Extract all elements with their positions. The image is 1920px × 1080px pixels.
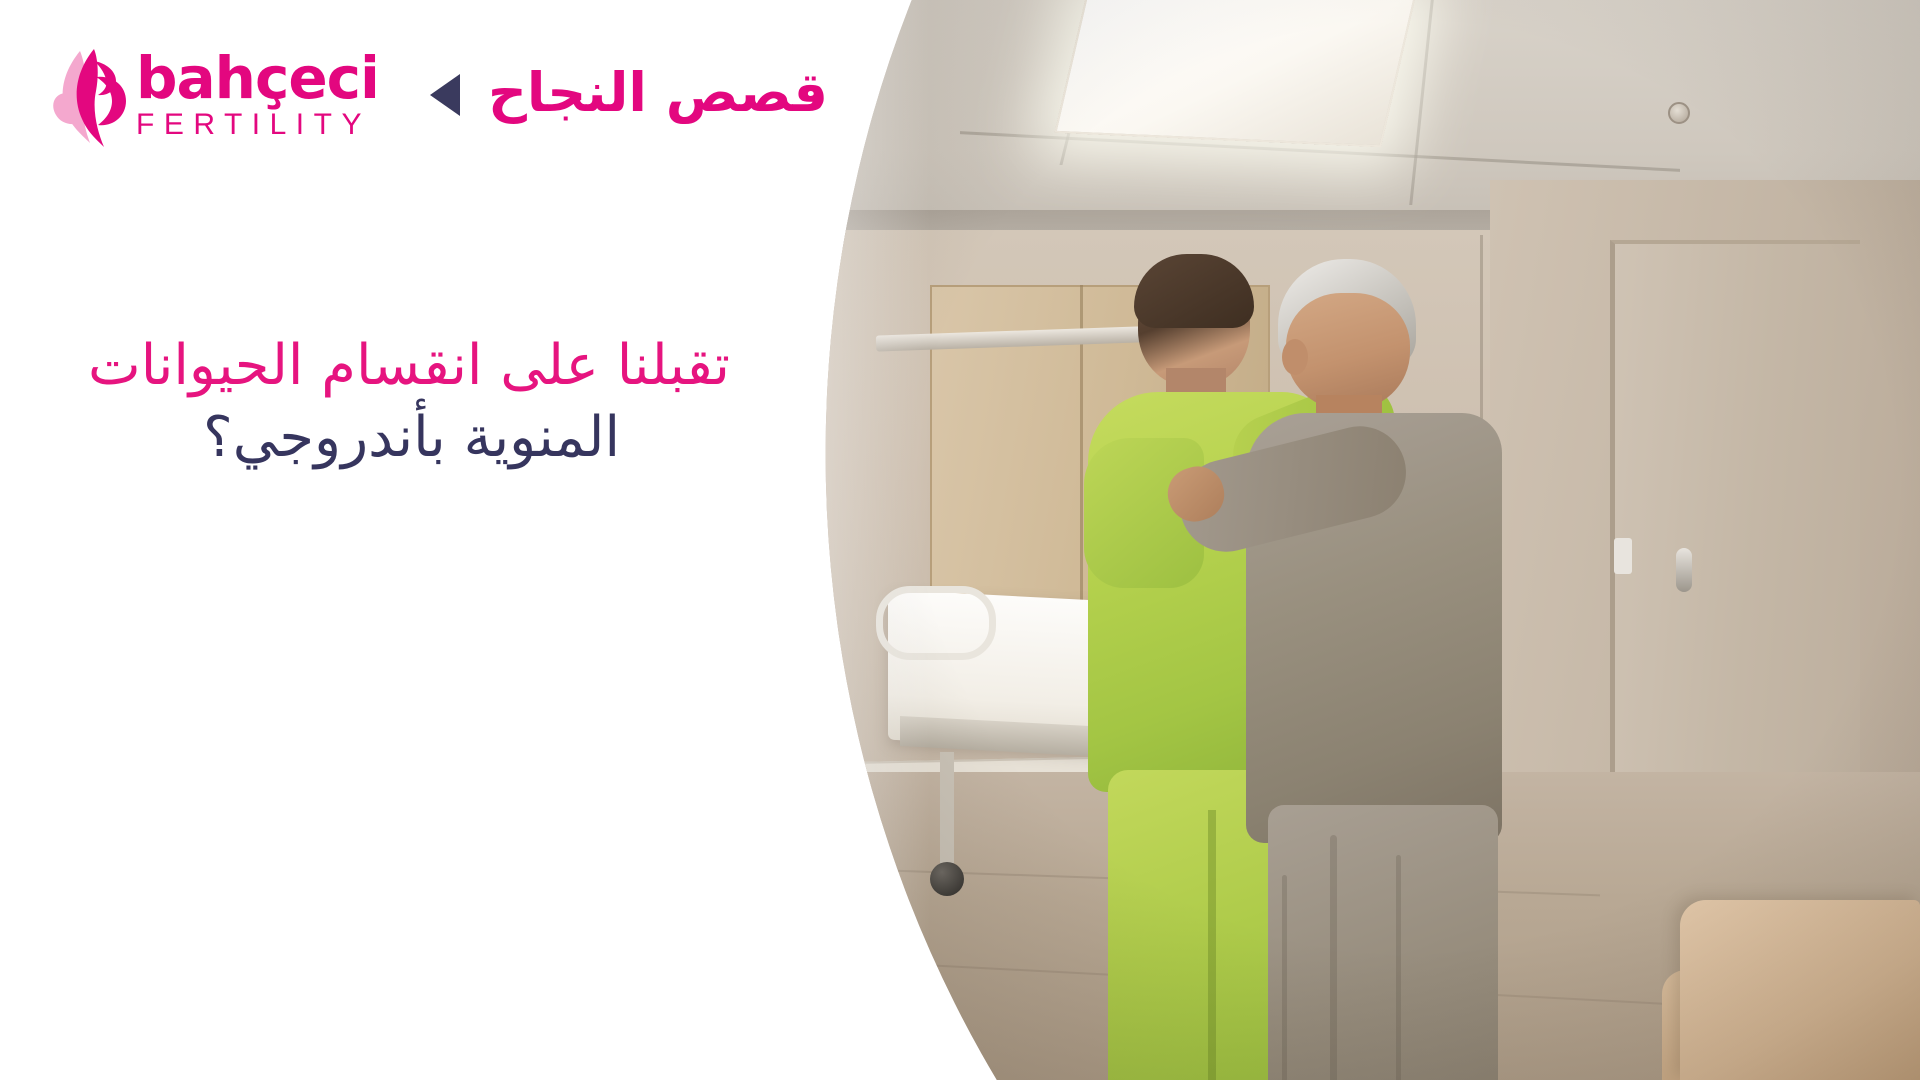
patient-robe-lower <box>1268 805 1498 1080</box>
brand-logo[interactable]: bahçeci FERTILITY <box>50 42 450 152</box>
hospital-bed-wheel <box>930 862 964 896</box>
brand-tagline: FERTILITY <box>136 108 379 142</box>
logo-wordmark: bahçeci FERTILITY <box>136 52 379 142</box>
hospital-bed-rail <box>876 586 996 660</box>
armchair <box>1680 900 1920 1080</box>
headline-line-2: المنوية بأندروجي؟ <box>40 402 730 474</box>
play-triangle-icon[interactable] <box>430 74 460 116</box>
doctor-leg-seam <box>1208 810 1216 1080</box>
patient-in-grey-robe <box>1220 235 1530 955</box>
ceiling-light-panel <box>1054 0 1415 147</box>
section-heading[interactable]: قصص النجاح <box>430 48 828 138</box>
flower-bud-icon <box>50 47 128 147</box>
room-door <box>1610 240 1860 860</box>
hero-photo[interactable] <box>780 0 1920 1080</box>
photo-curved-mask <box>780 0 1920 1080</box>
robe-fold <box>1396 855 1401 1080</box>
hospital-room-scene <box>780 0 1920 1080</box>
door-handle <box>1676 548 1692 592</box>
headline-line-1: تقبلنا على انقسام الحيوانات <box>40 330 730 402</box>
robe-fold <box>1282 875 1287 1080</box>
headline: تقبلنا على انقسام الحيوانات المنوية بأند… <box>40 330 730 473</box>
section-title: قصص النجاح <box>488 66 828 120</box>
robe-fold <box>1330 835 1337 1080</box>
ceiling-sensor-icon <box>1668 102 1690 124</box>
slide-root: bahçeci FERTILITY قصص النجاح تقبلنا على … <box>0 0 1920 1080</box>
brand-name: bahçeci <box>136 52 379 105</box>
hospital-bed-leg <box>940 752 954 872</box>
patient-ear <box>1282 339 1308 375</box>
door-plate <box>1614 538 1632 574</box>
